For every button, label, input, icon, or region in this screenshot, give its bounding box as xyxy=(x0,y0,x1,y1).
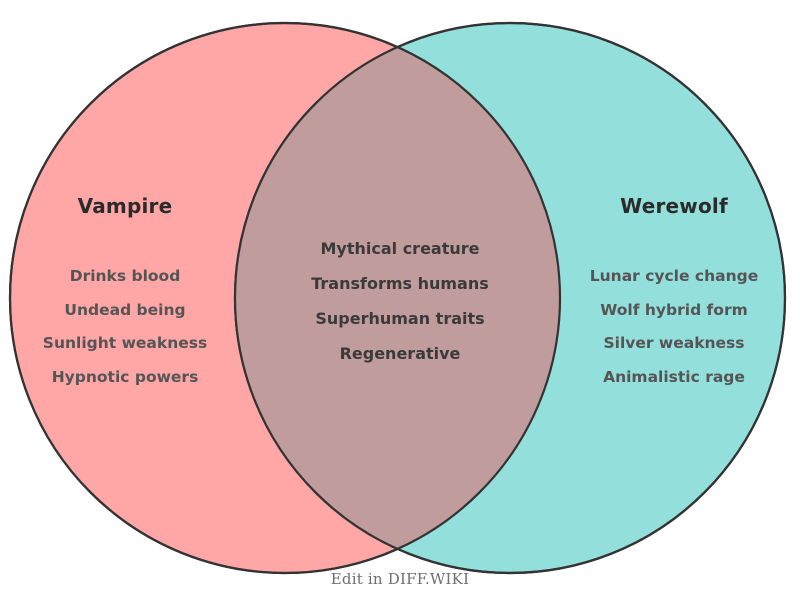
list-item: Drinks blood xyxy=(15,260,235,294)
venn-region-right: Werewolf Lunar cycle change Wolf hybrid … xyxy=(564,196,784,394)
edit-in-diff-wiki-link[interactable]: Edit in DIFF.WIKI xyxy=(0,570,800,588)
venn-region-intersection: Mythical creature Transforms humans Supe… xyxy=(285,231,515,371)
venn-left-title: Vampire xyxy=(15,196,235,216)
list-item: Lunar cycle change xyxy=(564,260,784,294)
list-item: Animalistic rage xyxy=(564,361,784,395)
list-item: Silver weakness xyxy=(564,327,784,361)
list-item: Wolf hybrid form xyxy=(564,294,784,328)
venn-right-item-list: Lunar cycle change Wolf hybrid form Silv… xyxy=(564,260,784,394)
venn-right-title: Werewolf xyxy=(564,196,784,216)
list-item: Undead being xyxy=(15,294,235,328)
venn-left-item-list: Drinks blood Undead being Sunlight weakn… xyxy=(15,260,235,394)
venn-intersection-item-list: Mythical creature Transforms humans Supe… xyxy=(285,231,515,371)
venn-region-left: Vampire Drinks blood Undead being Sunlig… xyxy=(15,196,235,394)
list-item: Transforms humans xyxy=(285,266,515,301)
list-item: Sunlight weakness xyxy=(15,327,235,361)
list-item: Mythical creature xyxy=(285,231,515,266)
list-item: Hypnotic powers xyxy=(15,361,235,395)
list-item: Superhuman traits xyxy=(285,301,515,336)
venn-diagram: Vampire Drinks blood Undead being Sunlig… xyxy=(0,0,800,600)
list-item: Regenerative xyxy=(285,336,515,371)
